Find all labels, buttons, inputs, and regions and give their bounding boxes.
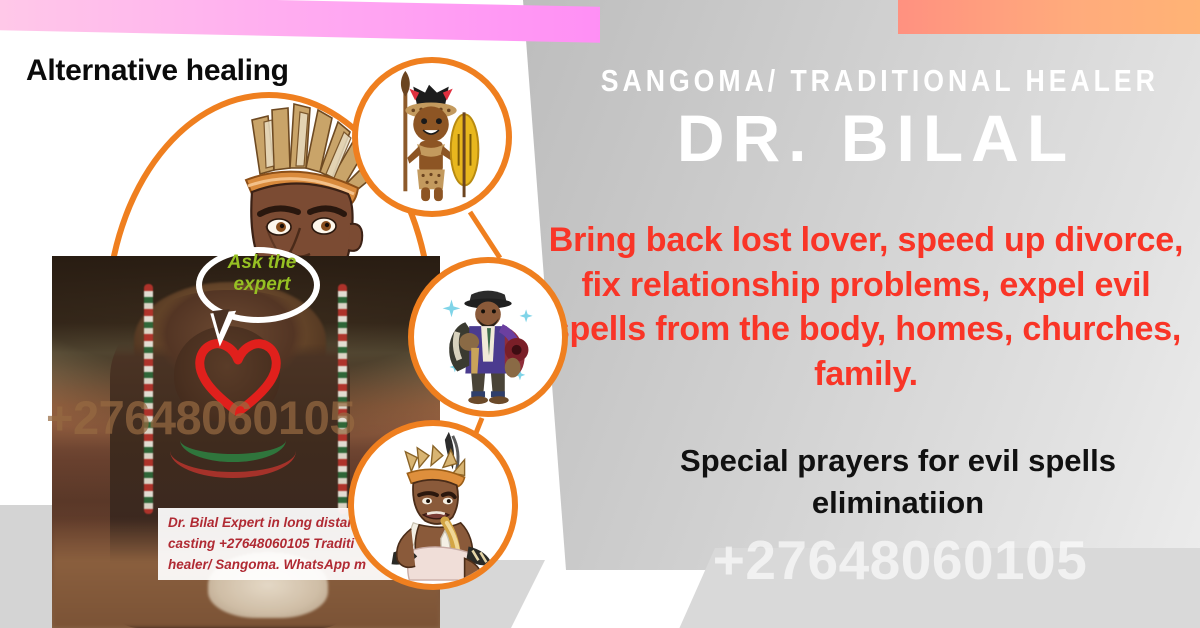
speech-bubble-text: Ask the expert xyxy=(206,252,318,296)
badge-crouching-warrior xyxy=(348,420,518,590)
page-title: Alternative healing xyxy=(26,54,289,88)
speech-bubble-tail-inner xyxy=(213,309,232,335)
badge-zulu-warrior xyxy=(352,57,512,217)
traditional-healer-with-bags-icon xyxy=(414,263,562,411)
zulu-warrior-with-spear-and-shield-icon xyxy=(358,63,506,211)
poster-canvas: Alternative healing xyxy=(0,0,1200,628)
badge-traditional-healer xyxy=(408,257,568,417)
crouching-warrior-with-feather-crown-icon xyxy=(354,426,512,584)
